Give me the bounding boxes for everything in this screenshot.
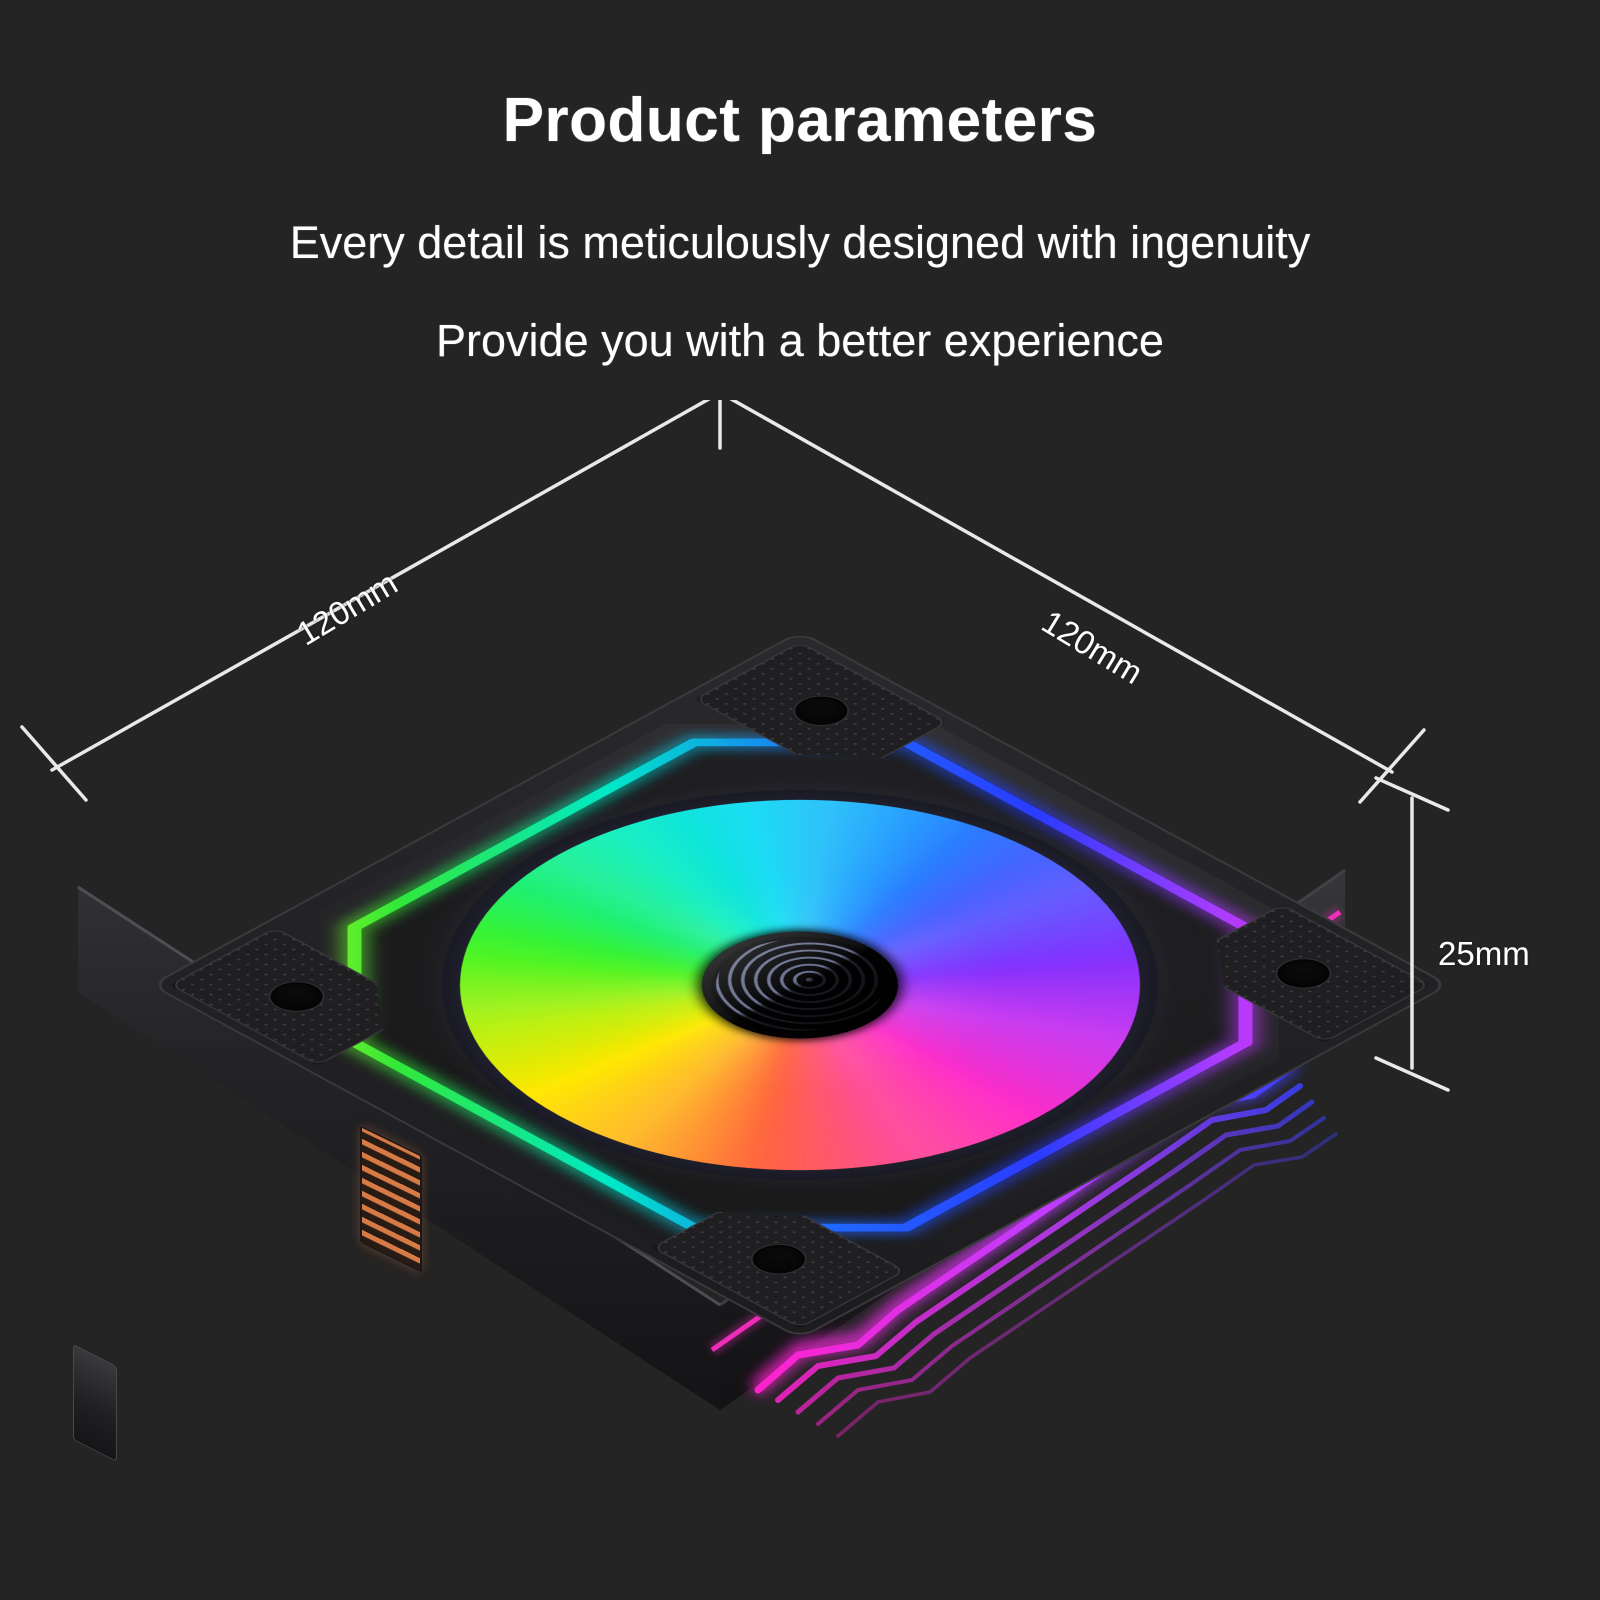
dimension-label-height: 25mm: [1438, 935, 1530, 973]
header-text-block: Product parameters Every detail is metic…: [0, 0, 1600, 363]
product-scene: 120mm 120mm 25mm: [0, 400, 1600, 1600]
subtitle-line-1: Every detail is meticulously designed wi…: [0, 220, 1600, 265]
subtitle-line-2: Provide you with a better experience: [0, 318, 1600, 363]
screw-hole-top-left: [784, 691, 858, 731]
page-title: Product parameters: [0, 90, 1600, 152]
product-parameters-page: Product parameters Every detail is metic…: [0, 0, 1600, 1600]
